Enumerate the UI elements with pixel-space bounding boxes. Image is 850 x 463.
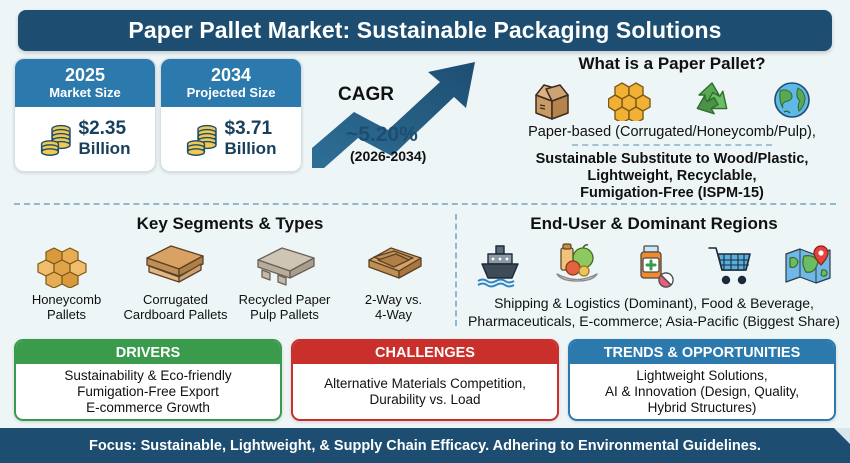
globe-icon — [768, 79, 816, 121]
stat-subtitle: Market Size — [49, 85, 121, 100]
segment-label: Honeycomb Pallets — [13, 292, 121, 322]
stat-card-header: 2034 Projected Size — [161, 59, 301, 107]
vertical-divider — [455, 214, 457, 326]
page-title: Paper Pallet Market: Sustainable Packagi… — [128, 17, 721, 44]
panel-challenges-heading: CHALLENGES — [293, 341, 557, 364]
segment-label: 2-Way vs. 4-Way — [340, 292, 448, 322]
segment-label: Corrugated Cardboard Pallets — [122, 292, 230, 322]
what-is-paper-pallet-section: What is a Paper Pallet? — [498, 54, 846, 202]
cagr-range: (2026-2034) — [350, 148, 426, 164]
coins-icon — [186, 119, 220, 159]
stat-year: 2034 — [211, 66, 251, 85]
coins-icon — [40, 119, 74, 159]
cardboard-box-icon — [528, 79, 576, 121]
key-segments-icon-row — [12, 242, 448, 288]
pulp-pallet-icon — [252, 242, 320, 288]
stat-year: 2025 — [65, 66, 105, 85]
stat-value: $3.71 — [225, 118, 273, 139]
food-icon — [551, 242, 603, 288]
panel-drivers-heading: DRIVERS — [16, 341, 280, 364]
end-user-title: End-User & Dominant Regions — [462, 214, 846, 234]
header-banner: Paper Pallet Market: Sustainable Packagi… — [18, 10, 832, 51]
what-is-line1: Paper-based (Corrugated/Honeycomb/Pulp), — [498, 124, 846, 140]
horizontal-divider — [14, 203, 836, 205]
corner-notch-decoration — [834, 428, 850, 444]
footer-banner: Focus: Sustainable, Lightweight, & Suppl… — [0, 428, 850, 463]
cagr-label: CAGR — [338, 84, 394, 106]
panel-challenges-body: Alternative Materials Competition, Durab… — [293, 364, 557, 419]
honeycomb-pallet-icon — [34, 242, 98, 288]
two-way-pallet-icon — [363, 242, 427, 288]
stat-value: $2.35 — [79, 118, 127, 139]
recycle-icon — [688, 79, 736, 121]
dashed-separator-small — [572, 144, 772, 146]
footer-text: Focus: Sustainable, Lightweight, & Suppl… — [89, 438, 761, 454]
what-is-icon-row — [498, 79, 846, 121]
cagr-block: CAGR ~5.20% (2026-2034) — [310, 56, 495, 174]
stat-card-projected-size: 2034 Projected Size $3.71 — [160, 58, 302, 172]
infographic-canvas: Paper Pallet Market: Sustainable Packagi… — [0, 0, 850, 463]
stat-card-body: $3.71 Billion — [161, 107, 301, 171]
stat-value-group: $3.71 Billion — [225, 119, 277, 159]
honeycomb-icon — [608, 79, 656, 121]
stat-value-group: $2.35 Billion — [79, 119, 131, 159]
stat-card-market-size: 2025 Market Size $2.35 — [14, 58, 156, 172]
key-segments-labels: Honeycomb Pallets Corrugated Cardboard P… — [12, 292, 448, 322]
panel-drivers-body: Sustainability & Eco-friendly Fumigation… — [16, 364, 280, 419]
end-user-icon-row — [462, 242, 846, 288]
panel-trends: TRENDS & OPPORTUNITIES Lightweight Solut… — [568, 339, 836, 421]
panel-trends-body: Lightweight Solutions, AI & Innovation (… — [570, 364, 834, 419]
key-segments-section: Key Segments & Types — [12, 214, 448, 322]
panel-drivers: DRIVERS Sustainability & Eco-friendly Fu… — [14, 339, 282, 421]
panel-challenges: CHALLENGES Alternative Materials Competi… — [291, 339, 559, 421]
pharma-icon — [628, 242, 680, 288]
shopping-cart-icon — [705, 242, 757, 288]
key-segments-title: Key Segments & Types — [12, 214, 448, 234]
stat-card-header: 2025 Market Size — [15, 59, 155, 107]
what-is-title: What is a Paper Pallet? — [498, 54, 846, 74]
ship-icon — [474, 242, 526, 288]
stat-card-body: $2.35 Billion — [15, 107, 155, 171]
cagr-value: ~5.20% — [346, 123, 418, 147]
stat-unit: Billion — [225, 139, 277, 159]
panel-trends-heading: TRENDS & OPPORTUNITIES — [570, 341, 834, 364]
stat-subtitle: Projected Size — [187, 85, 276, 100]
end-user-section: End-User & Dominant Regions — [462, 214, 846, 330]
what-is-line2: Sustainable Substitute to Wood/Plastic, … — [498, 151, 846, 202]
end-user-description: Shipping & Logistics (Dominant), Food & … — [462, 294, 846, 330]
corrugated-pallet-icon — [141, 242, 209, 288]
segment-label: Recycled Paper Pulp Pallets — [231, 292, 339, 322]
stat-unit: Billion — [79, 139, 131, 159]
map-pin-icon — [782, 242, 834, 288]
